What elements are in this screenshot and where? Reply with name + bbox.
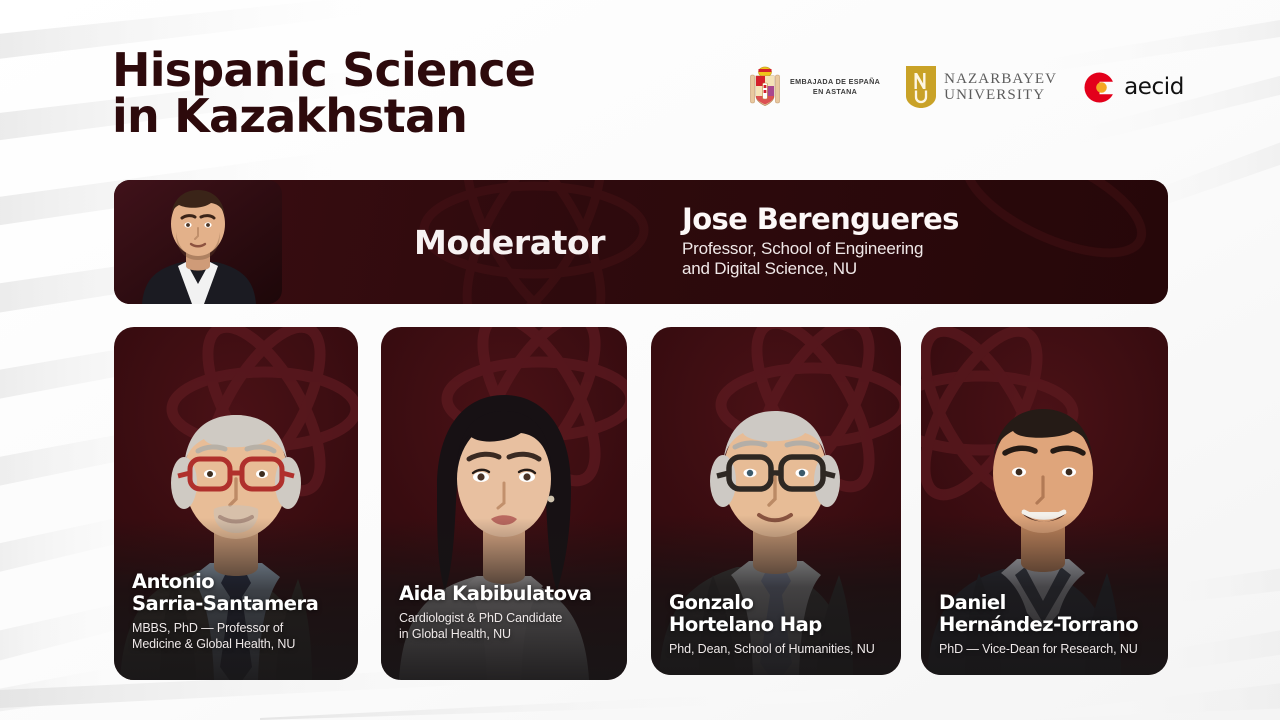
speaker-card-grid: Antonio Sarria-Santamera MBBS, PhD — Pro… xyxy=(0,0,1280,720)
speaker-role: PhD — Vice-Dean for Research, NU xyxy=(939,641,1156,657)
speaker-card[interactable]: Aida Kabibulatova Cardiologist & PhD Can… xyxy=(381,327,627,680)
speaker-role-line-1: Cardiologist & PhD Candidate xyxy=(399,610,615,626)
speaker-name: Antonio Sarria-Santamera xyxy=(132,571,346,615)
speaker-role: Phd, Dean, School of Humanities, NU xyxy=(669,641,889,657)
speaker-role: MBBS, PhD — Professor of Medicine & Glob… xyxy=(132,620,346,652)
speaker-name: Daniel Hernández-Torrano xyxy=(939,592,1156,636)
speaker-role-line-2: Medicine & Global Health, NU xyxy=(132,636,346,652)
speaker-name-line-2: Sarria-Santamera xyxy=(132,593,346,615)
speaker-name-line-1: Antonio xyxy=(132,571,346,593)
speaker-role: Cardiologist & PhD Candidate in Global H… xyxy=(399,610,615,642)
speaker-card[interactable]: Antonio Sarria-Santamera MBBS, PhD — Pro… xyxy=(114,327,358,680)
speaker-card[interactable]: Gonzalo Hortelano Hap Phd, Dean, School … xyxy=(651,327,901,675)
speaker-name-line-2: Hortelano Hap xyxy=(669,614,889,636)
speaker-role-line-1: PhD — Vice-Dean for Research, NU xyxy=(939,641,1156,657)
speaker-caption: Gonzalo Hortelano Hap Phd, Dean, School … xyxy=(669,592,889,657)
speaker-role-line-1: Phd, Dean, School of Humanities, NU xyxy=(669,641,889,657)
speaker-name-line-1: Aida Kabibulatova xyxy=(399,583,615,605)
speaker-card[interactable]: Daniel Hernández-Torrano PhD — Vice-Dean… xyxy=(921,327,1168,675)
speaker-name: Aida Kabibulatova xyxy=(399,583,615,605)
speaker-caption: Aida Kabibulatova Cardiologist & PhD Can… xyxy=(399,583,615,642)
speaker-name: Gonzalo Hortelano Hap xyxy=(669,592,889,636)
speaker-role-line-2: in Global Health, NU xyxy=(399,626,615,642)
speaker-name-line-1: Gonzalo xyxy=(669,592,889,614)
speaker-caption: Antonio Sarria-Santamera MBBS, PhD — Pro… xyxy=(132,571,346,652)
speaker-role-line-1: MBBS, PhD — Professor of xyxy=(132,620,346,636)
speaker-caption: Daniel Hernández-Torrano PhD — Vice-Dean… xyxy=(939,592,1156,657)
speaker-name-line-2: Hernández-Torrano xyxy=(939,614,1156,636)
speaker-name-line-1: Daniel xyxy=(939,592,1156,614)
